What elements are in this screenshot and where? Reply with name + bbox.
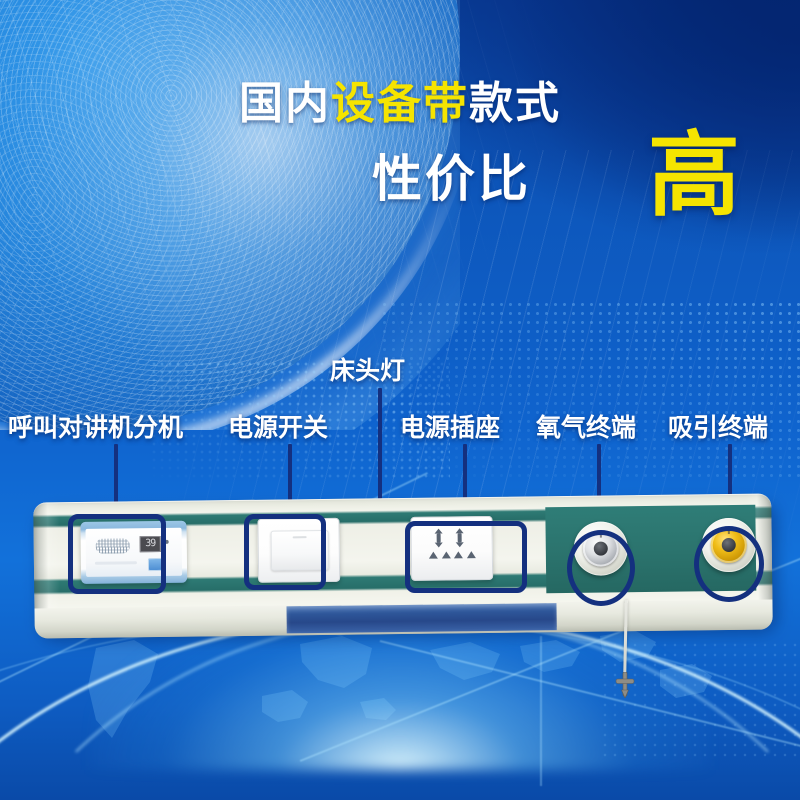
callout-label-power-socket: 电源插座 [400,415,500,440]
callout-label-power-switch: 电源开关 [228,415,328,440]
callout-label-intercom: 呼叫对讲机分机 [8,415,183,440]
callout-label-suction-terminal: 吸引终端 [668,415,768,440]
highlight-box-intercom [68,514,166,594]
product-banner: 国内设备带款式 性价比 高 呼叫对讲机分机 电源开关 床头灯 电源插座 氧气终端… [0,0,800,800]
callout-label-oxygen-terminal: 氧气终端 [536,415,636,440]
highlight-box-power-socket [405,521,527,593]
highlight-box-power-switch [244,514,326,590]
pull-cord-handle-icon[interactable] [612,672,638,698]
bed-lamp-diffuser [286,603,556,633]
callout-label-bed-lamp: 床头灯 [330,358,405,383]
highlight-circle-oxygen-terminal [567,530,635,606]
highlight-circle-suction-terminal [694,526,764,602]
callout-layer: 呼叫对讲机分机 电源开关 床头灯 电源插座 氧气终端 吸引终端 [0,0,800,800]
